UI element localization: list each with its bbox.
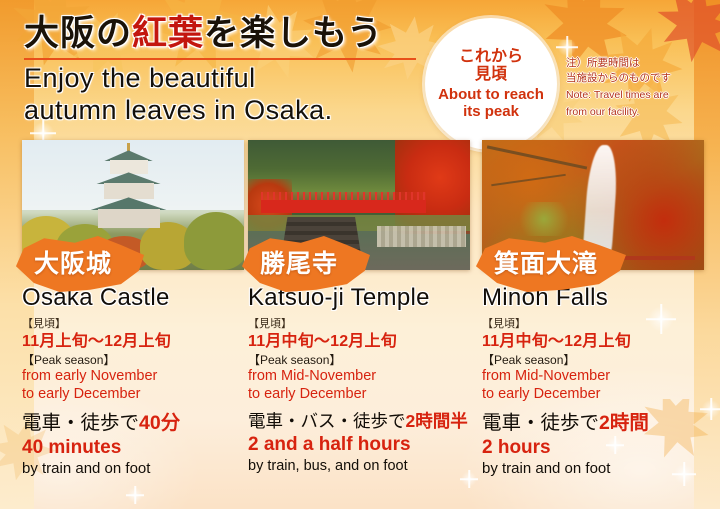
peak-label-en: 【Peak season】 [22, 353, 244, 369]
title-en-line2: autumn leaves in Osaka. [24, 95, 444, 126]
access-ja: 電車・徒歩で40分 [22, 410, 244, 436]
access-ja-duration: 40分 [139, 412, 180, 434]
access-ja-pre: 電車・徒歩で [482, 412, 599, 434]
note-ja-line2: 当施設からのものです [566, 71, 716, 86]
access-ja-pre: 電車・徒歩で [22, 412, 139, 434]
access-ja: 電車・バス・徒歩で2時間半 [248, 410, 470, 434]
page-title-japanese: 大阪の紅葉を楽しもう [24, 14, 444, 53]
peak-season-en-line1: from Mid-November [248, 368, 470, 386]
travel-time-note: 注）所要時間は 当施設からのものです Note: Travel times ar… [566, 56, 716, 120]
peak-season-en-line2: to early December [22, 386, 244, 404]
access-ja: 電車・徒歩で2時間 [482, 410, 704, 436]
access-ja-duration: 2時間 [599, 412, 649, 434]
spot-info: 【見頃】 11月中旬〜12月上旬 【Peak season】 from Mid-… [248, 318, 470, 475]
peak-label-en: 【Peak season】 [248, 353, 470, 369]
access-en-mode: by train and on foot [482, 460, 704, 479]
peak-season-ja: 11月上旬〜12月上旬 [22, 332, 244, 353]
title-ja-post: を楽しもう [204, 14, 383, 53]
badge-ja-line2: 見頃 [475, 66, 507, 84]
spot-nameplate: 箕面大滝 [482, 248, 704, 278]
spot-card-minoh-falls[interactable]: 箕面大滝 Minoh Falls 【見頃】 11月中旬〜12月上旬 【Peak … [482, 140, 704, 478]
access-en-duration: 2 hours [482, 437, 704, 460]
spot-card-list: 大阪城 Osaka Castle 【見頃】 11月上旬〜12月上旬 【Peak … [0, 140, 720, 509]
spot-name-japanese: 勝尾寺 [260, 244, 338, 280]
poster-header: 大阪の紅葉を楽しもう Enjoy the beautiful autumn le… [24, 14, 444, 126]
peak-season-ja: 11月中旬〜12月上旬 [482, 332, 704, 353]
badge-en-line1: About to reach [438, 86, 544, 103]
badge-en-line2: its peak [463, 103, 519, 120]
title-ja-highlight: 紅葉 [132, 14, 204, 53]
spot-name-japanese: 箕面大滝 [494, 244, 598, 280]
peak-season-en-line1: from Mid-November [482, 368, 704, 386]
peak-season-en-line1: from early November [22, 368, 244, 386]
spot-nameplate: 大阪城 [22, 248, 244, 278]
note-ja-line1: 注）所要時間は [566, 56, 716, 71]
poster-canvas: 大阪の紅葉を楽しもう Enjoy the beautiful autumn le… [0, 0, 720, 509]
spot-card-katsuo-ji-temple[interactable]: 勝尾寺 Katsuo-ji Temple 【見頃】 11月中旬〜12月上旬 【P… [248, 140, 470, 475]
title-divider [24, 58, 416, 60]
peak-season-en-line2: to early December [248, 386, 470, 404]
access-ja-pre: 電車・バス・徒歩で [248, 411, 406, 431]
title-en-line1: Enjoy the beautiful [24, 63, 444, 94]
spot-nameplate: 勝尾寺 [248, 248, 470, 278]
peak-label-ja: 【見頃】 [248, 318, 470, 332]
peak-label-ja: 【見頃】 [22, 318, 244, 332]
access-en-mode: by train and on foot [22, 460, 244, 479]
peak-season-en-line2: to early December [482, 386, 704, 404]
spot-card-osaka-castle[interactable]: 大阪城 Osaka Castle 【見頃】 11月上旬〜12月上旬 【Peak … [22, 140, 244, 478]
peak-label-en: 【Peak season】 [482, 353, 704, 369]
spot-info: 【見頃】 11月中旬〜12月上旬 【Peak season】 from Mid-… [482, 318, 704, 478]
peak-season-ja: 11月中旬〜12月上旬 [248, 332, 470, 353]
status-badge: これから 見頃 About to reach its peak [425, 18, 557, 150]
peak-label-ja: 【見頃】 [482, 318, 704, 332]
access-en-duration: 40 minutes [22, 437, 244, 460]
access-en-mode: by train, bus, and on foot [248, 457, 470, 475]
page-title-english: Enjoy the beautiful autumn leaves in Osa… [24, 63, 444, 126]
access-ja-duration: 2時間半 [406, 411, 468, 431]
title-ja-pre: 大阪の [24, 14, 132, 53]
access-en-duration: 2 and a half hours [248, 434, 470, 457]
spot-name-japanese: 大阪城 [34, 244, 112, 280]
note-en-line2: from our facility. [566, 105, 716, 120]
note-en-line1: Note: Travel times are [566, 88, 716, 103]
spot-info: 【見頃】 11月上旬〜12月上旬 【Peak season】 from earl… [22, 318, 244, 478]
badge-ja-line1: これから [459, 48, 523, 66]
